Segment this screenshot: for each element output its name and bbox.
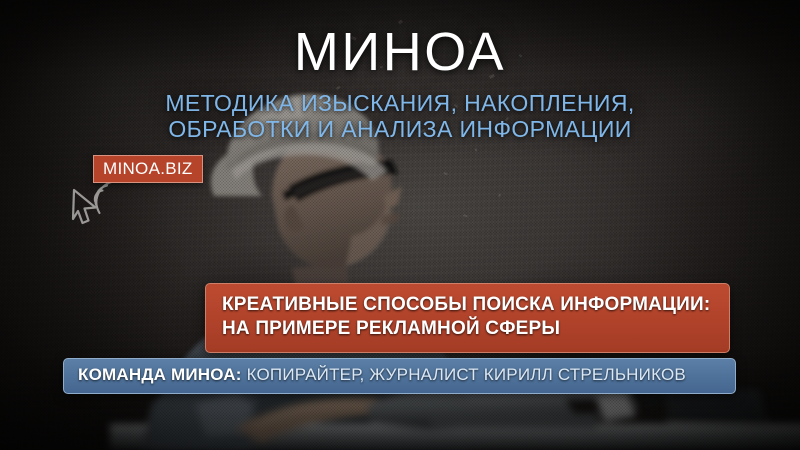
url-badge[interactable]: MINOA.BIZ [93,155,203,183]
brand-subtitle: МЕТОДИКА ИЗЫСКАНИЯ, НАКОПЛЕНИЯ, ОБРАБОТК… [0,90,800,142]
topic-banner-line-1: КРЕАТИВНЫЕ СПОСОБЫ ПОИСКА ИНФОРМАЦИИ: [222,293,729,317]
brand-subtitle-line-1: МЕТОДИКА ИЗЫСКАНИЯ, НАКОПЛЕНИЯ, [0,90,800,116]
page-title: МИНОА [0,22,800,82]
speaker-banner-name: КОПИРАЙТЕР, ЖУРНАЛИСТ КИРИЛЛ СТРЕЛЬНИКОВ [247,365,686,384]
topic-banner: КРЕАТИВНЫЕ СПОСОБЫ ПОИСКА ИНФОРМАЦИИ: НА… [205,283,730,353]
speaker-banner: КОМАНДА МИНОА: КОПИРАЙТЕР, ЖУРНАЛИСТ КИР… [63,358,736,394]
topic-banner-line-2: НА ПРИМЕРЕ РЕКЛАМНОЙ СФЕРЫ [222,317,729,341]
speaker-banner-lead: КОМАНДА МИНОА: [78,365,242,384]
brand-subtitle-line-2: ОБРАБОТКИ И АНАЛИЗА ИНФОРМАЦИИ [0,116,800,142]
click-cursor-icon [64,180,118,230]
video-frame: МИНОА МЕТОДИКА ИЗЫСКАНИЯ, НАКОПЛЕНИЯ, ОБ… [0,0,800,450]
